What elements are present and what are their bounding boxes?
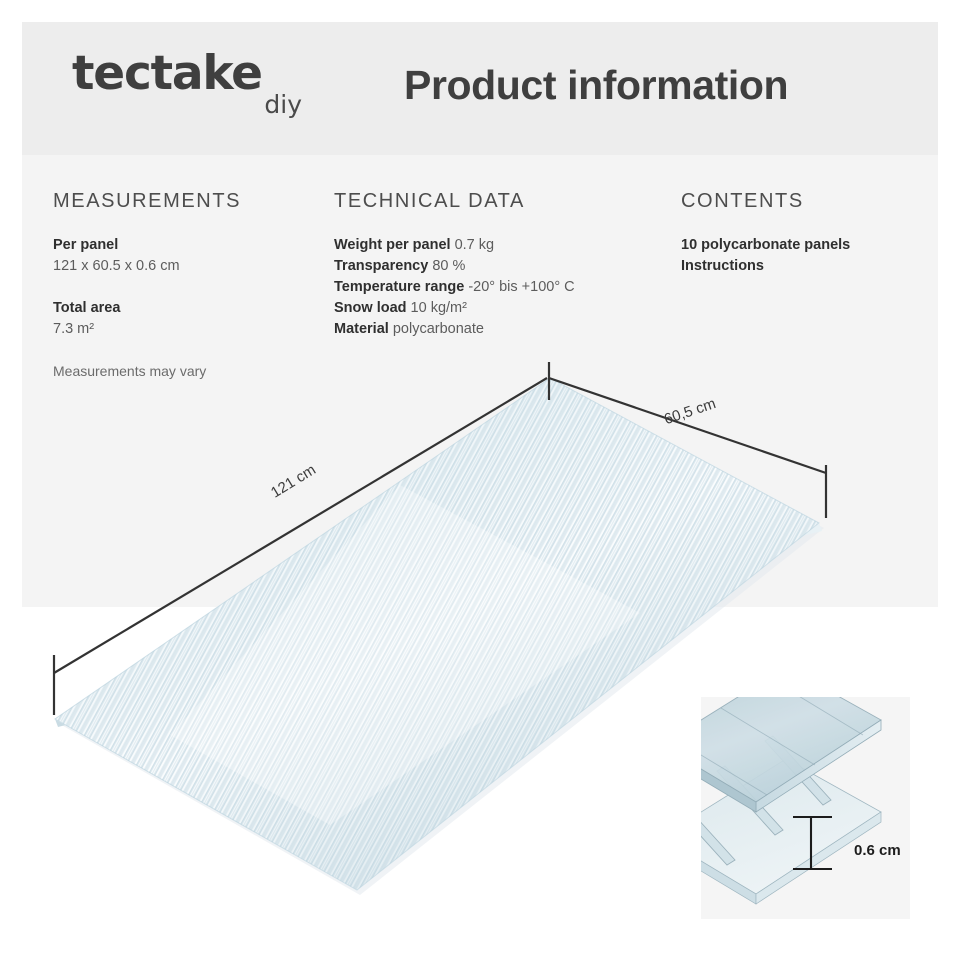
cross-section-illustration: [701, 697, 910, 919]
technical-data-row-value: 10 kg/m²: [411, 300, 467, 316]
technical-data-heading: TECHNICAL DATA: [334, 190, 669, 213]
contents-item: Instructions: [681, 256, 931, 277]
contents-item: 10 polycarbonate panels: [681, 235, 931, 256]
contents-heading: CONTENTS: [681, 190, 931, 213]
page-title: Product information: [404, 62, 788, 109]
measurements-entry-value: 7.3 m²: [53, 319, 323, 340]
measurements-heading: MEASUREMENTS: [53, 190, 323, 213]
measurements-entry: Per panel 121 x 60.5 x 0.6 cm: [53, 235, 323, 277]
contents-column: CONTENTS 10 polycarbonate panels Instruc…: [681, 190, 931, 277]
technical-data-row-value: 80 %: [432, 258, 465, 274]
measurements-entry: Total area 7.3 m²: [53, 298, 323, 340]
technical-data-row-value: 0.7 kg: [455, 237, 495, 253]
thickness-detail-inset: 0.6 cm: [701, 697, 910, 919]
technical-data-row: Transparency 80 %: [334, 256, 669, 277]
brand-logo-subtitle: diy: [264, 92, 302, 117]
technical-data-row-label: Temperature range: [334, 279, 464, 295]
technical-data-row-value: -20° bis +100° C: [468, 279, 574, 295]
technical-data-row-label: Transparency: [334, 258, 428, 274]
technical-data-row: Weight per panel 0.7 kg: [334, 235, 669, 256]
measurements-entry-label: Per panel: [53, 235, 323, 256]
measurements-column: MEASUREMENTS Per panel 121 x 60.5 x 0.6 …: [53, 190, 323, 381]
brand-logo: tectake diy: [72, 50, 302, 130]
spacer: [53, 277, 323, 298]
measurements-entry-label: Total area: [53, 298, 323, 319]
product-information-sheet: tectake diy Product information MEASUREM…: [0, 0, 960, 960]
technical-data-column: TECHNICAL DATA Weight per panel 0.7 kg T…: [334, 190, 669, 340]
technical-data-row: Snow load 10 kg/m²: [334, 298, 669, 319]
technical-data-row-label: Material: [334, 321, 389, 337]
technical-data-row: Material polycarbonate: [334, 319, 669, 340]
technical-data-row-value: polycarbonate: [393, 321, 484, 337]
technical-data-row-label: Weight per panel: [334, 237, 451, 253]
technical-data-row-label: Snow load: [334, 300, 407, 316]
technical-data-row: Temperature range -20° bis +100° C: [334, 277, 669, 298]
measurements-entry-value: 121 x 60.5 x 0.6 cm: [53, 256, 323, 277]
thickness-label: 0.6 cm: [854, 842, 901, 859]
